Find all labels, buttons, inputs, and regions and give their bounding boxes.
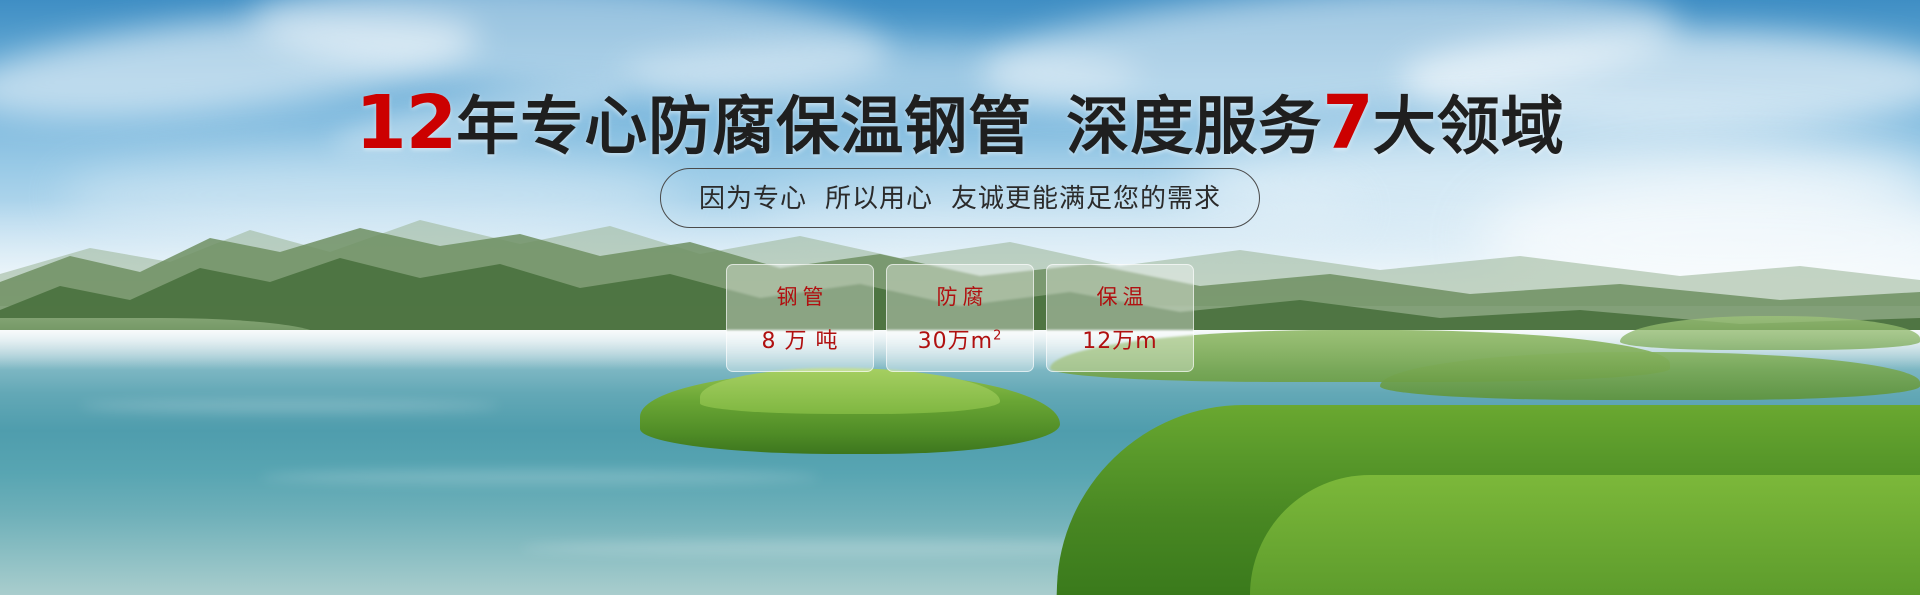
stat-label: 保温 <box>1092 281 1149 311</box>
stat-value-main: 30万m <box>918 329 993 354</box>
headline-part-three: 大领域 <box>1373 90 1565 163</box>
stat-label: 防腐 <box>932 281 989 311</box>
stat-card-insulation[interactable]: 保温 12万m <box>1046 264 1194 372</box>
foreground-grass-highlight <box>1250 475 1920 595</box>
stat-value: 8 万 吨 <box>762 323 839 355</box>
stat-value: 12万m <box>1082 323 1157 355</box>
stat-card-steel-pipe[interactable]: 钢管 8 万 吨 <box>726 264 874 372</box>
headline-part-one: 年专心防腐保温钢管 <box>456 90 1032 163</box>
water-reflection <box>80 400 500 412</box>
stat-label: 钢管 <box>772 281 829 311</box>
headline-fields-number: 7 <box>1322 80 1373 166</box>
headline-years-number: 12 <box>355 80 456 166</box>
stat-value: 30万m2 <box>918 323 1003 355</box>
subtitle-pill: 因为专心所以用心友诚更能满足您的需求 <box>660 168 1260 228</box>
page-title: 12年专心防腐保温钢管深度服务7大领域 <box>0 86 1920 160</box>
headline-part-two: 深度服务 <box>1066 90 1322 163</box>
stat-value-exponent: 2 <box>993 329 1002 344</box>
stat-value-main: 12万m <box>1082 329 1157 354</box>
stat-value-main: 8 万 吨 <box>762 329 839 354</box>
hero-banner: 12年专心防腐保温钢管深度服务7大领域 因为专心所以用心友诚更能满足您的需求 钢… <box>0 0 1920 595</box>
subtitle-segment-1: 因为专心 <box>699 184 807 214</box>
subtitle-segment-3: 友诚更能满足您的需求 <box>951 184 1221 214</box>
subtitle-segment-2: 所以用心 <box>825 184 933 214</box>
water-reflection <box>260 470 820 484</box>
stat-card-group: 钢管 8 万 吨 防腐 30万m2 保温 12万m <box>726 264 1194 372</box>
stat-card-anticorrosion[interactable]: 防腐 30万m2 <box>886 264 1034 372</box>
